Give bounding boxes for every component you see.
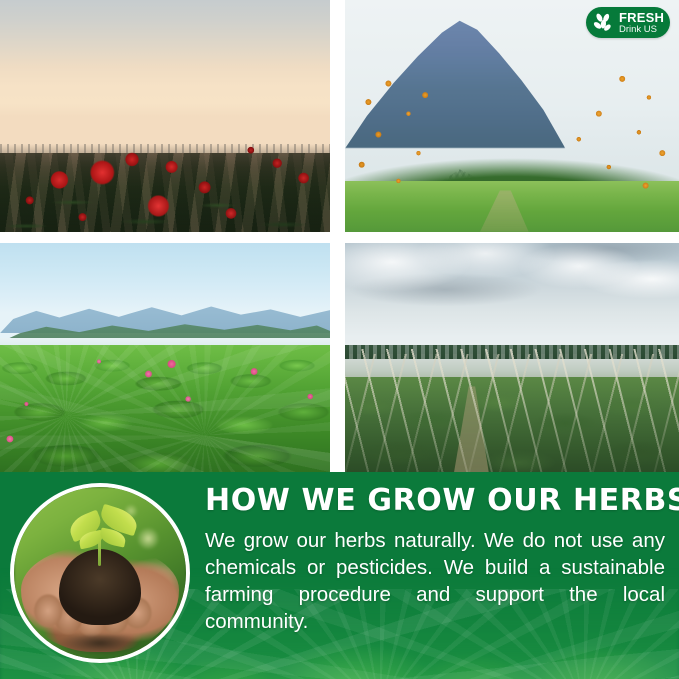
- rose-field-photo: [0, 0, 330, 232]
- crop-clouds: [345, 243, 679, 349]
- fresh-drink-us-badge[interactable]: FRESH Drink US: [586, 7, 670, 38]
- panel-heading: HOW WE GROW OUR HERBS: [205, 486, 665, 517]
- leaf-cluster-icon: [591, 11, 615, 35]
- panel-body-text: We grow our herbs naturally. We do not u…: [205, 527, 665, 635]
- crop-stakes-secondary: [345, 354, 679, 474]
- lotus-pond-photo: [0, 243, 330, 474]
- panel-text-block: HOW WE GROW OUR HERBS We grow our herbs …: [205, 486, 665, 635]
- product-lifestyle-poster: FRESH Drink US HOW WE GROW OUR HERBS We …: [0, 0, 679, 679]
- info-panel: HOW WE GROW OUR HERBS We grow our herbs …: [0, 472, 679, 679]
- hands-holding-seedling-photo: [10, 483, 190, 663]
- photo-grid: FRESH Drink US: [0, 0, 679, 474]
- rose-blooms: [0, 139, 330, 232]
- brand-title: FRESH: [619, 11, 664, 24]
- staked-crop-field-photo: [345, 243, 679, 474]
- brand-wordmark: FRESH Drink US: [619, 11, 664, 35]
- brand-subtitle: Drink US: [619, 25, 664, 35]
- lotus-flowers: [0, 349, 330, 474]
- soil-spill: [45, 635, 155, 663]
